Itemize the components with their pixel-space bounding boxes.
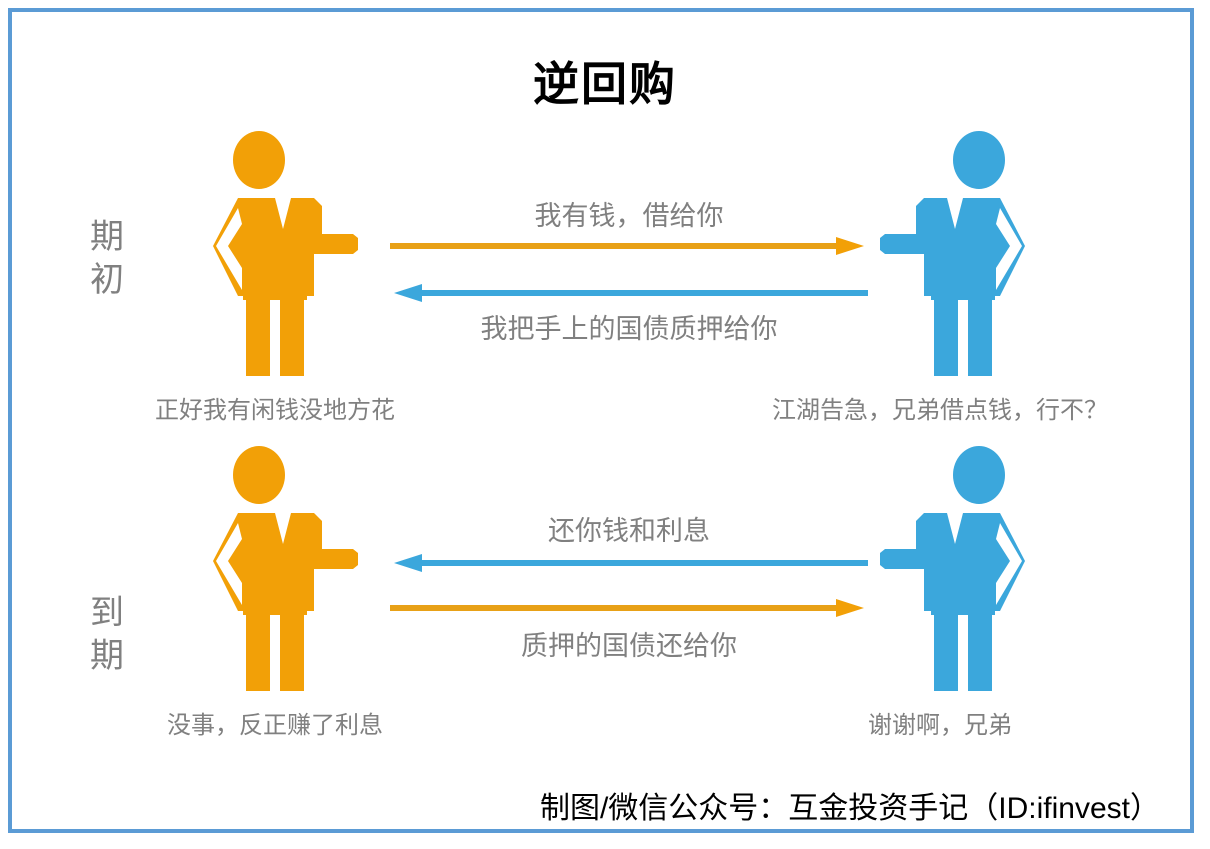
caption-lender-period-start: 正好我有闲钱没地方花 bbox=[55, 390, 495, 425]
page-title: 逆回购 bbox=[0, 48, 1210, 114]
businessman-hand-on-left-hip-right-arm-out-icon bbox=[202, 443, 372, 693]
arrow-left-icon-repay-principal-interest bbox=[388, 553, 870, 573]
person-icon-lender-orange bbox=[202, 443, 372, 693]
arrow-right-icon-lend-money bbox=[388, 236, 870, 256]
row-label-char: 期 bbox=[72, 216, 142, 259]
row-label-char: 初 bbox=[72, 259, 142, 302]
caption-lender-maturity: 没事，反正赚了利息 bbox=[55, 705, 495, 740]
person-icon-lender-orange bbox=[202, 128, 372, 378]
row-label-period-start: 期 初 bbox=[72, 216, 142, 302]
arrow-label-repay-principal-interest: 还你钱和利息 bbox=[388, 509, 870, 548]
arrow-left-icon-pledge-bonds bbox=[388, 283, 870, 303]
caption-borrower-period-start: 江湖告急，兄弟借点钱，行不？ bbox=[720, 390, 1160, 425]
arrow-label-pledge-bonds: 我把手上的国债质押给你 bbox=[388, 307, 870, 346]
arrow-label-lend-money: 我有钱，借给你 bbox=[388, 194, 870, 233]
businessman-hand-on-left-hip-right-arm-out-icon bbox=[202, 128, 372, 378]
person-icon-borrower-blue bbox=[866, 128, 1036, 378]
businessman-hand-on-right-hip-left-arm-out-icon bbox=[866, 128, 1036, 378]
row-label-maturity: 到 期 bbox=[72, 592, 142, 678]
row-label-char: 期 bbox=[72, 635, 142, 678]
person-icon-borrower-blue bbox=[866, 443, 1036, 693]
footer-credit: 制图/微信公众号：互金投资手记（ID:ifinvest） bbox=[0, 783, 1160, 827]
caption-borrower-maturity: 谢谢啊，兄弟 bbox=[720, 705, 1160, 740]
businessman-hand-on-right-hip-left-arm-out-icon bbox=[866, 443, 1036, 693]
arrow-right-icon-return-pledged-bonds bbox=[388, 598, 870, 618]
row-label-char: 到 bbox=[72, 592, 142, 635]
diagram-canvas: 逆回购 期 初 到 期 bbox=[0, 0, 1210, 849]
arrow-label-return-pledged-bonds: 质押的国债还给你 bbox=[388, 624, 870, 663]
